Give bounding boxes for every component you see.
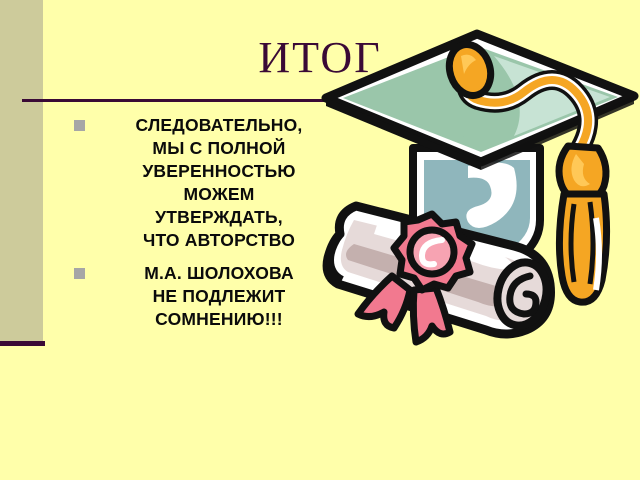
list-item-line: СЛЕДОВАТЕЛЬНО, bbox=[136, 115, 303, 135]
list-item-line: М.А. ШОЛОХОВА bbox=[144, 263, 294, 283]
list-item: СЛЕДОВАТЕЛЬНО, МЫ С ПОЛНОЙ УВЕРЕННОСТЬЮ … bbox=[74, 114, 342, 252]
list-item-line: УВЕРЕННОСТЬЮ bbox=[142, 161, 295, 181]
diploma-scroll-icon bbox=[327, 206, 553, 334]
title-divider bbox=[22, 99, 618, 102]
list-item: М.А. ШОЛОХОВА НЕ ПОДЛЕЖИТ СОМНЕНИЮ!!! bbox=[74, 262, 342, 331]
list-item-line: НЕ ПОДЛЕЖИТ bbox=[153, 286, 286, 306]
rosette-ribbon-icon bbox=[358, 214, 472, 342]
slide-canvas: ИТОГ bbox=[0, 0, 640, 480]
list-item-line: МЫ С ПОЛНОЙ bbox=[152, 138, 285, 158]
list-item-line: УТВЕРЖДАТЬ, bbox=[155, 207, 283, 227]
bullet-marker-icon bbox=[74, 268, 85, 279]
list-item-line: СОМНЕНИЮ!!! bbox=[155, 309, 283, 329]
page-title: ИТОГ bbox=[0, 32, 640, 84]
list-item-line: ЧТО АВТОРСТВО bbox=[143, 230, 295, 250]
list-item-line: МОЖЕМ bbox=[183, 184, 254, 204]
side-decoration-rule bbox=[0, 341, 45, 346]
bullet-list: СЛЕДОВАТЕЛЬНО, МЫ С ПОЛНОЙ УВЕРЕННОСТЬЮ … bbox=[74, 114, 342, 341]
bullet-marker-icon bbox=[74, 120, 85, 131]
